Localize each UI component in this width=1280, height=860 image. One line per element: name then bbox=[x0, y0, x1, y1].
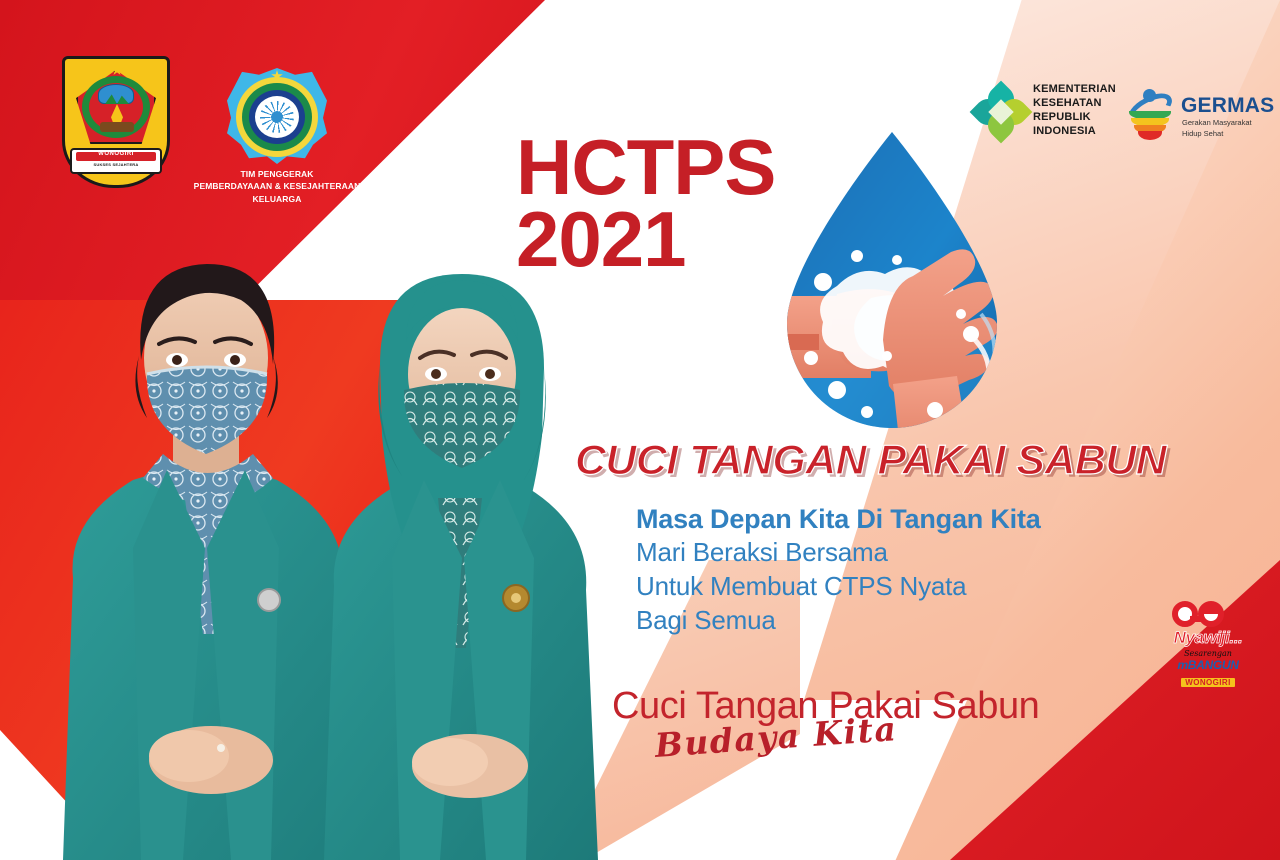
germas-head-shape bbox=[1143, 89, 1156, 102]
pkk-caption-line-2: PEMBERDAYAAAN & KESEJAHTERAAN bbox=[186, 180, 368, 192]
headline-banner: CUCI TANGAN PAKAI SABUN bbox=[575, 436, 1228, 484]
page-title: HCTPS 2021 bbox=[516, 132, 775, 276]
germas-subtitle-line-1: Gerakan Masyarakat bbox=[1182, 117, 1252, 128]
body-line-3: Untuk Membuat CTPS Nyata bbox=[636, 570, 1156, 604]
kemenkes-wordmark: KEMENTERIAN KESEHATAN REPUBLIK INDONESIA bbox=[1033, 82, 1116, 138]
go-nyawiji-go-mark bbox=[1152, 601, 1264, 627]
crest-ribbon-subtext: SUKSES SEJAHTERA bbox=[62, 162, 170, 167]
go-nyawiji-bangun-text: mBANGUN bbox=[1152, 658, 1264, 672]
wonogiri-regency-crest-logo: WONOGIRI SUKSES SEJAHTERA bbox=[62, 56, 170, 188]
body-text-block: Masa Depan Kita Di Tangan Kita Mari Bera… bbox=[636, 503, 1156, 637]
pkk-logo: TIM PENGGERAK PEMBERDAYAAAN & KESEJAHTER… bbox=[222, 68, 332, 168]
go-nyawiji-logo: Nyawiji... Sesarengan mBANGUN WONOGIRI bbox=[1152, 601, 1264, 677]
germas-layer-red bbox=[1138, 131, 1162, 140]
go-nyawiji-region-badge: WONOGIRI bbox=[1181, 678, 1234, 687]
crest-ribbon-text: WONOGIRI bbox=[62, 151, 170, 157]
title-year-text: 2021 bbox=[516, 204, 775, 276]
pkk-gear-icon bbox=[258, 99, 296, 135]
body-line-2: Mari Beraksi Bersama bbox=[636, 536, 1156, 570]
germas-figure-icon bbox=[1125, 87, 1177, 139]
germas-logo: GERMAS Gerakan Masyarakat Hidup Sehat bbox=[1125, 85, 1255, 143]
go-letter-g-icon bbox=[1172, 601, 1198, 627]
figure-right-woman bbox=[320, 268, 620, 860]
poster-canvas: WONOGIRI SUKSES SEJAHTERA TIM PENGGERAK … bbox=[0, 0, 1280, 860]
body-line-1: Masa Depan Kita Di Tangan Kita bbox=[636, 503, 1156, 536]
germas-title: GERMAS bbox=[1181, 94, 1274, 118]
germas-subtitle-line-2: Hidup Sehat bbox=[1182, 128, 1252, 139]
title-main-text: HCTPS bbox=[516, 132, 775, 204]
go-letter-o-icon bbox=[1198, 601, 1224, 627]
go-nyawiji-wordmark: Nyawiji... bbox=[1152, 628, 1264, 648]
pkk-caption-line-3: KELUARGA bbox=[186, 193, 368, 205]
crest-base-shape bbox=[100, 122, 134, 132]
kemenkes-line-2: KESEHATAN bbox=[1033, 96, 1116, 110]
germas-subtitle: Gerakan Masyarakat Hidup Sehat bbox=[1182, 117, 1252, 140]
crest-mountain-icon bbox=[98, 84, 134, 104]
kemenkes-line-1: KEMENTERIAN bbox=[1033, 82, 1116, 96]
kemenkes-line-4: INDONESIA bbox=[1033, 124, 1116, 138]
water-droplet-handwash-icon bbox=[775, 128, 1010, 438]
go-nyawiji-script-text: Sesarengan bbox=[1152, 649, 1264, 658]
kemenkes-line-3: REPUBLIK bbox=[1033, 110, 1116, 124]
pkk-caption: TIM PENGGERAK PEMBERDAYAAAN & KESEJAHTER… bbox=[186, 168, 368, 205]
pkk-caption-line-1: TIM PENGGERAK bbox=[186, 168, 368, 180]
body-line-4: Bagi Semua bbox=[636, 604, 1156, 638]
